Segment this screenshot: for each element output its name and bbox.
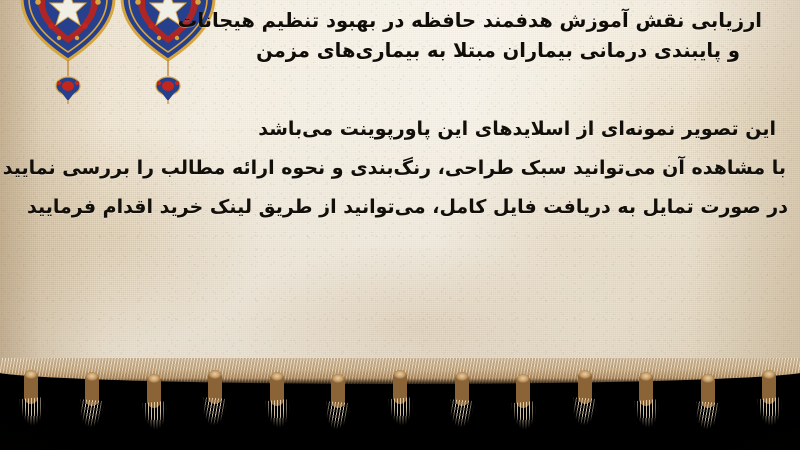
body-line-3: در صورت تمایل به دریافت فایل کامل، می‌تو… (10, 188, 790, 227)
fringe-tassel (695, 374, 721, 448)
fringe-tassel (141, 374, 167, 448)
slide-body: این تصویر نمونه‌ای از اسلایدهای این پاور… (10, 110, 790, 227)
fringe-tassel (510, 374, 536, 448)
body-line-1: این تصویر نمونه‌ای از اسلایدهای این پاور… (10, 110, 790, 149)
fringe-tassel (387, 370, 413, 444)
fringe-tassel (202, 370, 228, 444)
tassel-threads (693, 401, 720, 450)
tassel-threads (757, 397, 785, 447)
body-line-2: با مشاهده آن می‌توانید سبک طراحی، رنگ‌بن… (10, 149, 790, 188)
fringe-tassel (79, 372, 105, 446)
slide-title: ارزیابی نقش آموزش هدفمند حافظه در بهبود … (18, 6, 778, 66)
fringe-tassel (572, 370, 598, 444)
fringe-tassel (756, 370, 782, 444)
tassel-threads (142, 401, 170, 450)
title-line-2: و پایبندی درمانی بیماران مبتلا به بیماری… (18, 36, 778, 66)
slide-text-layer: ارزیابی نقش آموزش هدفمند حافظه در بهبود … (0, 0, 800, 380)
title-line-1: ارزیابی نقش آموزش هدفمند حافظه در بهبود … (18, 6, 778, 36)
tassel-threads (19, 397, 47, 447)
slide-canvas: ارزیابی نقش آموزش هدفمند حافظه در بهبود … (0, 0, 800, 450)
fringe-tassel (264, 372, 290, 446)
tassel-threads (265, 399, 293, 449)
tassel-threads (200, 397, 227, 447)
tassel-threads (634, 399, 662, 449)
fringe-tassel (633, 372, 659, 446)
fringe-tassel (18, 370, 44, 444)
carpet-fringe (0, 358, 800, 450)
tassel-threads (570, 397, 597, 447)
fringe-tassel (325, 374, 351, 448)
tassel-threads (77, 399, 104, 449)
tassel-threads (511, 401, 539, 450)
tassel-threads (323, 401, 350, 450)
tassel-threads (447, 399, 474, 449)
fringe-tassel (449, 372, 475, 446)
tassel-threads (388, 397, 416, 447)
